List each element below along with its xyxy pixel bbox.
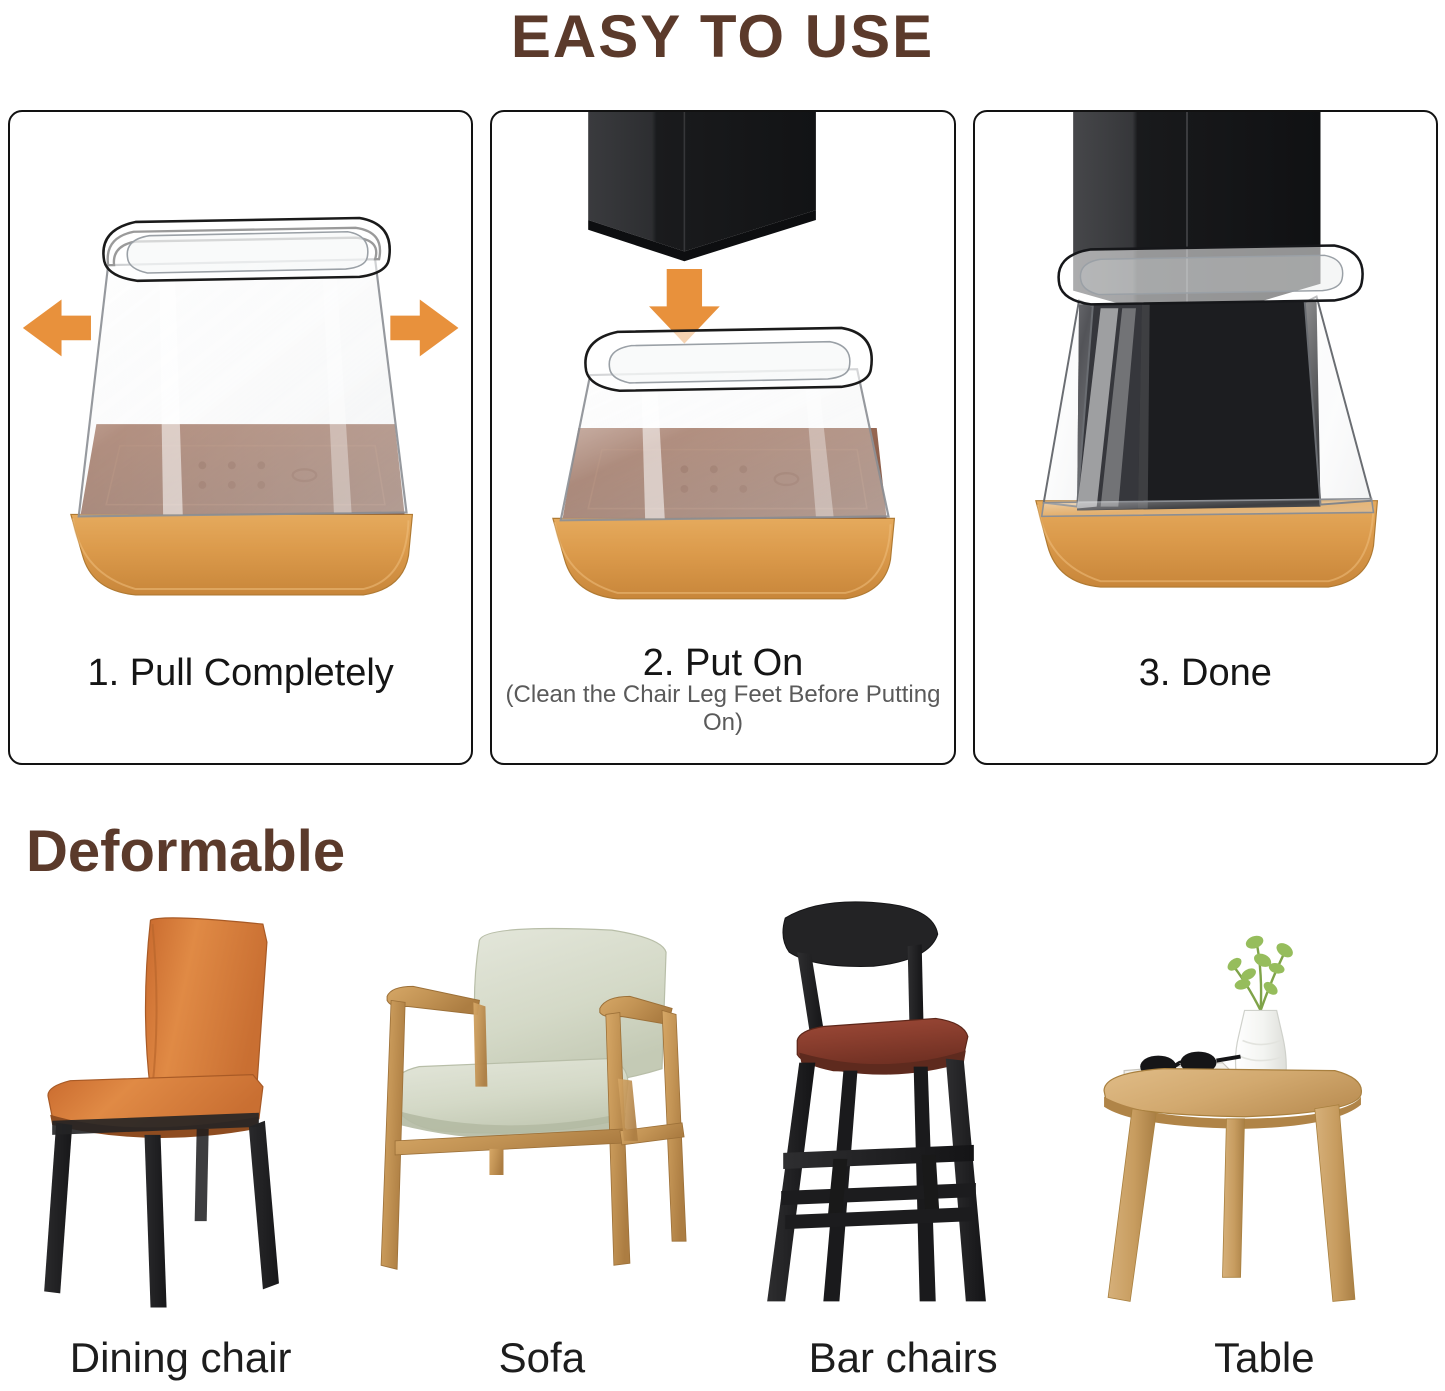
cork-pad — [553, 518, 895, 598]
step-panel-2: 2. Put On (Clean the Chair Leg Feet Befo… — [490, 110, 955, 765]
chair-leg — [589, 112, 817, 261]
furniture-label-dining-chair: Dining chair — [0, 1330, 361, 1390]
arrow-right-icon — [391, 300, 458, 355]
cap-rim — [586, 328, 872, 391]
furniture-labels-row: Dining chair Sofa Bar chairs Table — [0, 1330, 1445, 1390]
furniture-label-sofa: Sofa — [361, 1330, 722, 1390]
deformable-heading: Deformable — [26, 818, 345, 885]
furniture-row — [0, 890, 1445, 1310]
furniture-label-table: Table — [1084, 1330, 1445, 1390]
table-illustration — [1084, 890, 1445, 1311]
bar-chair-illustration — [723, 890, 1084, 1311]
step-panel-1: 1. Pull Completely — [8, 110, 473, 765]
cap-rim — [103, 218, 389, 281]
silicone-body — [79, 259, 407, 516]
cork-pad — [71, 514, 413, 594]
step-1-caption: 1. Pull Completely — [10, 652, 471, 695]
furniture-item-dining-chair — [0, 890, 361, 1310]
step-panel-3: 3. Done — [973, 110, 1438, 765]
step-2-caption: 2. Put On — [492, 642, 953, 685]
furniture-item-bar-chair — [723, 890, 1084, 1310]
furniture-label-bar-chairs: Bar chairs — [723, 1330, 1084, 1390]
step-3-caption: 3. Done — [975, 652, 1436, 695]
steps-row: 1. Pull Completely — [8, 110, 1438, 765]
furniture-item-sofa — [361, 890, 722, 1310]
furniture-item-table — [1084, 890, 1445, 1310]
sofa-illustration — [361, 890, 722, 1311]
page-title: EASY TO USE — [0, 2, 1445, 71]
silicone-body — [561, 369, 889, 520]
cap-rim — [1058, 245, 1362, 304]
plant — [1230, 942, 1286, 1010]
dining-chair-illustration — [0, 890, 361, 1311]
step-2-subtitle: (Clean the Chair Leg Feet Before Putting… — [492, 681, 953, 737]
arrow-left-icon — [24, 300, 91, 355]
